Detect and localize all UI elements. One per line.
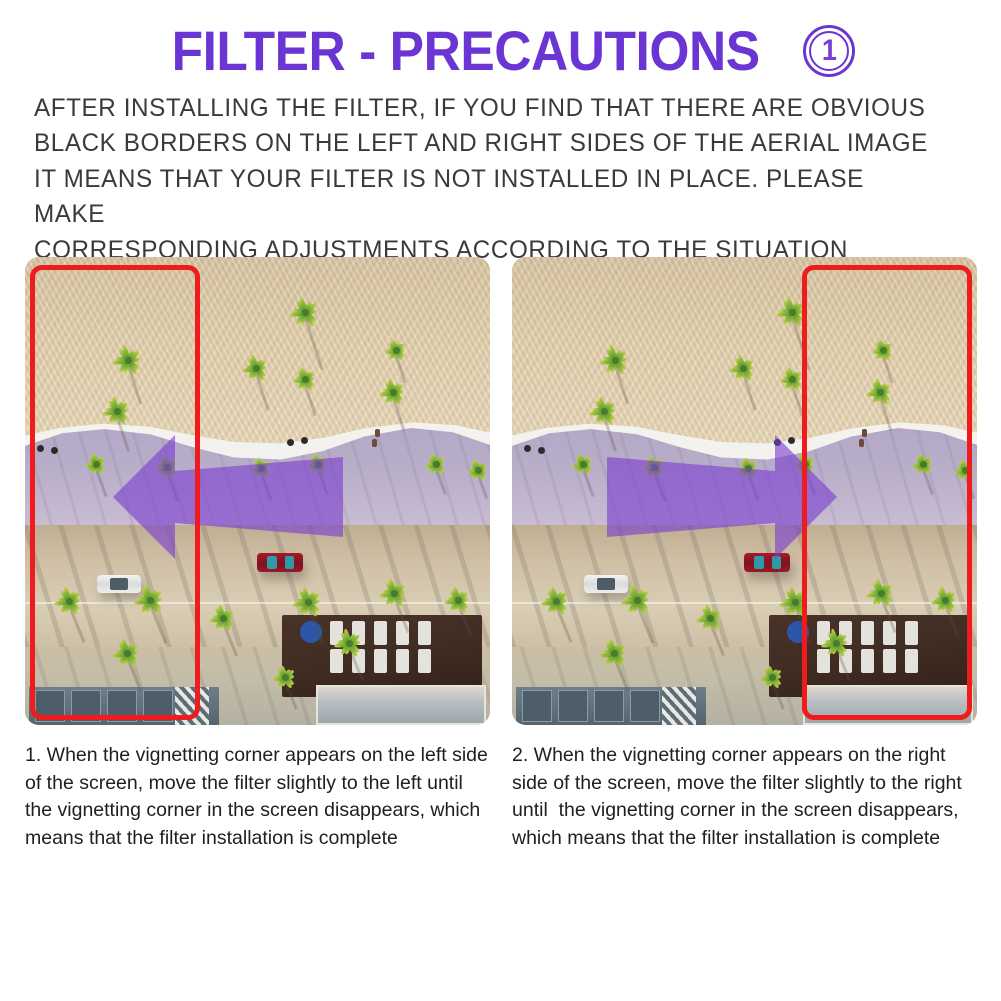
palm-tree bbox=[730, 355, 756, 381]
palm-tree bbox=[542, 587, 570, 615]
palm-tree bbox=[293, 587, 323, 617]
palm-tree bbox=[590, 397, 618, 425]
palm-tree bbox=[385, 339, 407, 361]
intro-line-3: IT MEANS THAT YOUR FILTER IS NOT INSTALL… bbox=[34, 162, 939, 233]
captions-row: 1. When the vignetting corner appears on… bbox=[25, 742, 978, 853]
palm-tree bbox=[380, 579, 408, 607]
palm-tree bbox=[760, 665, 784, 689]
pool-bay bbox=[522, 690, 552, 722]
caption-left: 1. When the vignetting corner appears on… bbox=[25, 742, 490, 853]
step-badge-number: 1 bbox=[822, 36, 837, 66]
intro-line-2: BLACK BORDERS ON THE LEFT AND RIGHT SIDE… bbox=[34, 126, 939, 162]
pool-bay bbox=[558, 690, 588, 722]
vignette-indicator-left bbox=[30, 265, 200, 720]
palm-tree bbox=[210, 605, 236, 631]
palm-tree bbox=[572, 453, 594, 475]
illustration-panels bbox=[25, 257, 978, 725]
palm-tree bbox=[622, 585, 652, 615]
palm-tree bbox=[273, 665, 297, 689]
lounger bbox=[418, 621, 431, 645]
person bbox=[372, 439, 377, 447]
lounger bbox=[374, 649, 387, 673]
person bbox=[375, 429, 380, 437]
palm-tree bbox=[380, 379, 406, 405]
vignette-indicator-right bbox=[802, 265, 972, 720]
lounger bbox=[396, 649, 409, 673]
lamp-post bbox=[538, 447, 545, 454]
palm-tree bbox=[697, 605, 723, 631]
palm-tree bbox=[780, 367, 804, 391]
building-roof bbox=[316, 685, 486, 725]
palm-tree bbox=[335, 629, 363, 657]
palm-tree bbox=[290, 297, 320, 327]
page-title: FILTER - PRECAUTIONS bbox=[171, 22, 759, 81]
striped-marker bbox=[662, 687, 696, 725]
panel-left bbox=[25, 257, 490, 725]
pool-bay bbox=[630, 690, 660, 722]
panel-right bbox=[512, 257, 977, 725]
palm-tree bbox=[293, 367, 317, 391]
lamp-post bbox=[524, 445, 531, 452]
palm-tree bbox=[243, 355, 269, 381]
palm-tree bbox=[600, 345, 630, 375]
palm-tree bbox=[600, 639, 628, 667]
step-badge: 1 bbox=[803, 25, 855, 77]
lounger bbox=[374, 621, 387, 645]
title-row: FILTER - PRECAUTIONS 1 bbox=[0, 22, 1001, 81]
caption-right: 2. When the vignetting corner appears on… bbox=[512, 742, 977, 853]
palm-tree bbox=[445, 587, 471, 613]
palm-tree bbox=[467, 459, 489, 481]
intro-line-1: AFTER INSTALLING THE FILTER, IF YOU FIND… bbox=[34, 91, 939, 127]
lounger bbox=[418, 649, 431, 673]
palm-tree bbox=[425, 453, 447, 475]
pool-bay bbox=[594, 690, 624, 722]
